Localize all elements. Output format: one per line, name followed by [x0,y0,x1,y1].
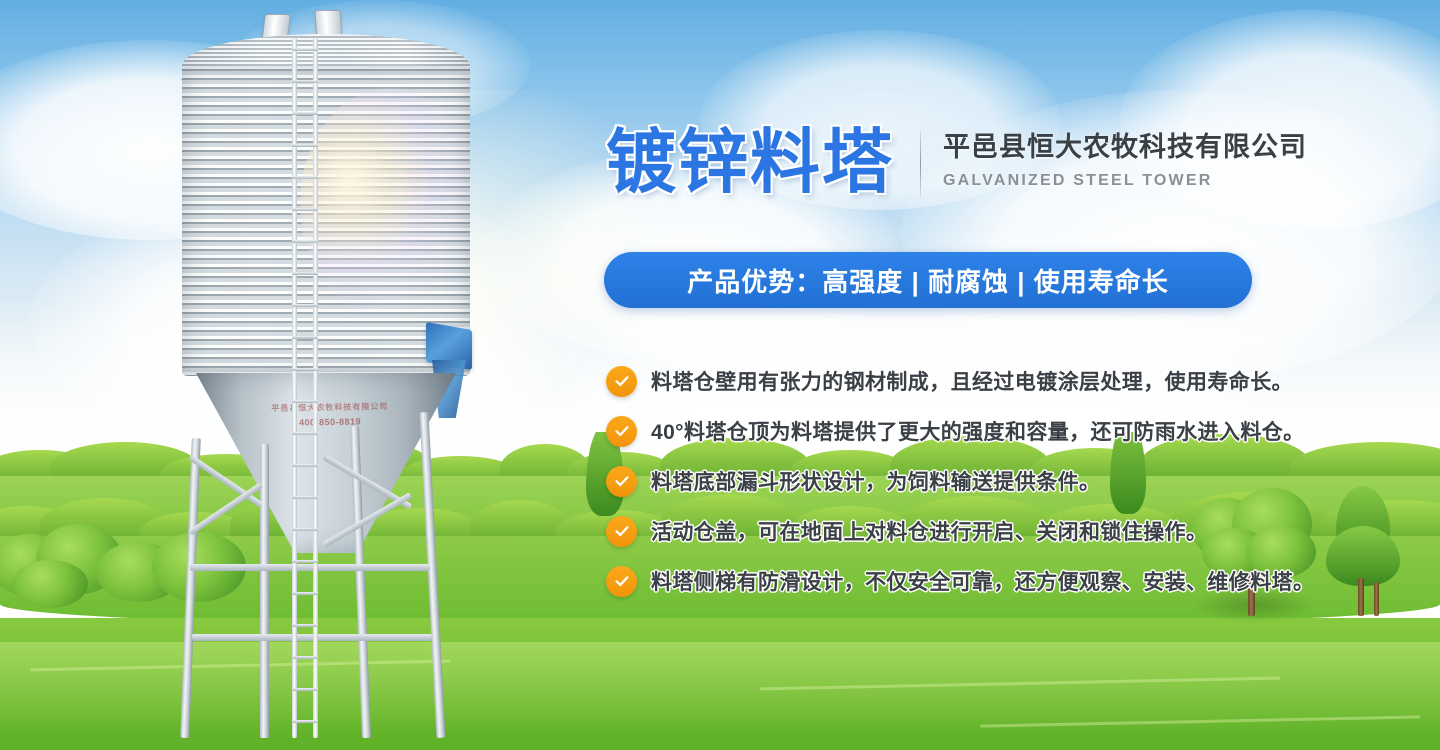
silo-cone-branding: 平邑县恒大农牧科技有限公司 400-850-8819 [260,399,401,435]
list-item: 40°料塔仓顶为料塔提供了更大的强度和容量，还可防雨水进入料仓。 [606,406,1436,456]
feature-list: 料塔仓壁用有张力的钢材制成，且经过电镀涂层处理，使用寿命长。 40°料塔仓顶为料… [606,356,1436,606]
silo-support-leg [419,412,445,738]
silo-support-leg [180,438,201,738]
feature-text: 40°料塔仓顶为料塔提供了更大的强度和容量，还可防雨水进入料仓。 [651,416,1305,446]
page-title: 镀锌料塔 [606,114,894,210]
feature-text: 料塔底部漏斗形状设计，为饲料输送提供条件。 [651,466,1100,496]
check-circle-icon [606,466,637,497]
silo-access-ladder [292,38,318,738]
advantage-banner-text: 产品优势：高强度 | 耐腐蚀 | 使用寿命长 [687,262,1168,299]
list-item: 料塔底部漏斗形状设计，为饲料输送提供条件。 [606,456,1436,506]
check-circle-icon [606,416,637,447]
check-circle-icon [606,366,637,397]
list-item: 料塔侧梯有防滑设计，不仅安全可靠，还方便观察、安装、维修料塔。 [606,556,1436,606]
promo-banner-stage: 平邑县恒大农牧科技有限公司 400-850-8819 [0,0,1440,750]
feature-text: 料塔仓壁用有张力的钢材制成，且经过电镀涂层处理，使用寿命长。 [651,366,1293,396]
list-item: 活动仓盖，可在地面上对料仓进行开启、关闭和锁住操作。 [606,506,1436,556]
promo-content-column: 镀锌料塔 平邑县恒大农牧科技有限公司 GALVANIZED STEEL TOWE… [600,0,1440,750]
galvanized-feed-silo-image: 平邑县恒大农牧科技有限公司 400-850-8819 [110,8,530,743]
headline-block: 镀锌料塔 平邑县恒大农牧科技有限公司 GALVANIZED STEEL TOWE… [606,114,1307,210]
list-item: 料塔仓壁用有张力的钢材制成，且经过电镀涂层处理，使用寿命长。 [606,356,1436,406]
check-circle-icon [606,516,637,547]
feature-text: 料塔侧梯有防滑设计，不仅安全可靠，还方便观察、安装、维修料塔。 [651,566,1314,596]
feature-text: 活动仓盖，可在地面上对料仓进行开启、关闭和锁住操作。 [651,516,1207,546]
silo-cross-brace [188,482,263,535]
product-subtitle-en: GALVANIZED STEEL TOWER [943,172,1307,190]
cone-brand-text: 平邑县恒大农牧科技有限公司 [260,399,400,416]
headline-divider [920,130,921,198]
check-circle-icon [606,566,637,597]
advantage-banner: 产品优势：高强度 | 耐腐蚀 | 使用寿命长 [604,252,1252,308]
company-name: 平邑县恒大农牧科技有限公司 [943,130,1307,164]
